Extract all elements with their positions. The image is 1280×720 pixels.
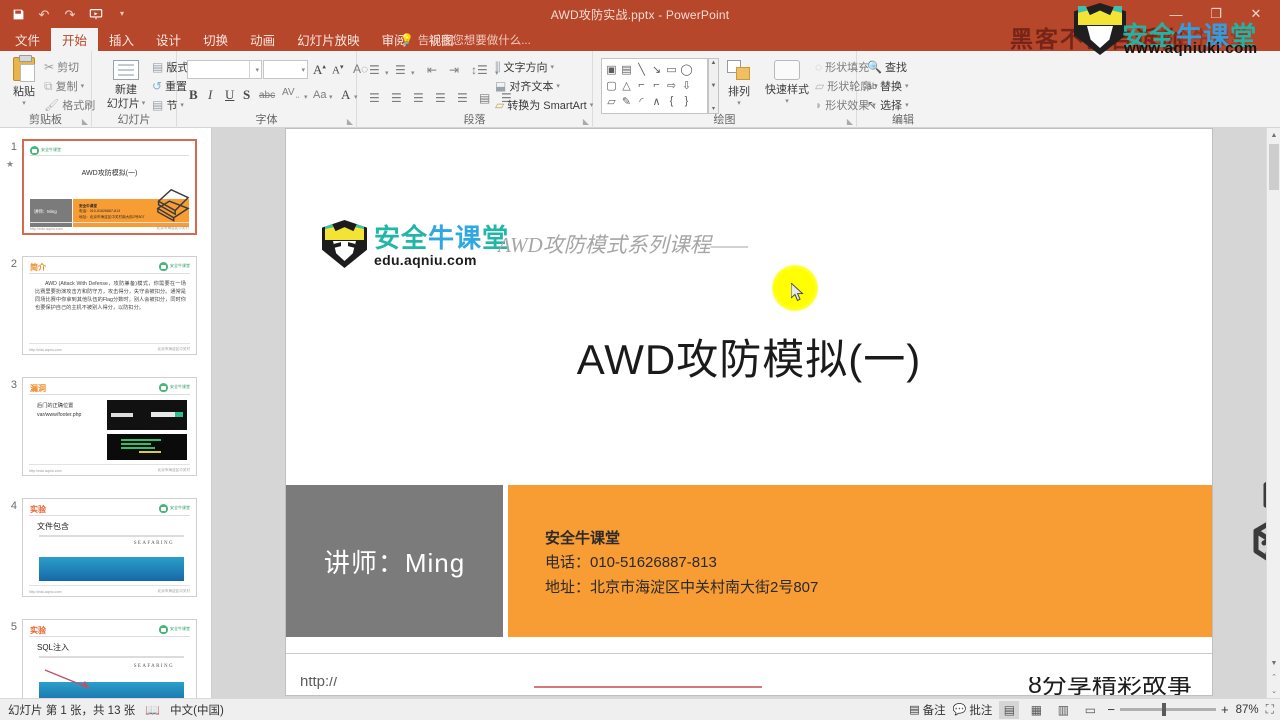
window-controls: — ❐ ✕ [1156,0,1276,28]
thumbnail-slide-4[interactable]: 实验 安全牛课堂 文件包含 SEAFARING http://edu.aqniu… [22,498,197,597]
thumb4-browser-chrome [39,535,184,537]
thumb1-title: AWD攻防模拟(一) [24,168,195,178]
thumb4-hero-image [39,557,184,581]
thumb5-browser-chrome [39,656,184,658]
character-spacing-caret-icon[interactable]: ▾ [304,93,308,101]
thumb2-header-line [29,273,190,274]
powerpoint-window: ↶ ↷ ▾ AWD攻防实战.pptx - PowerPoint — ❐ ✕ 文件… [0,0,1280,720]
shape-arrow-icon[interactable]: ↘ [649,61,664,77]
shape-curve-icon[interactable]: ∧ [649,93,664,109]
thumb3-body: 后门的正确位置var/www/footer.php [37,402,81,420]
status-bar-right: ▤ 备注 💬 批注 ▤ ▦ ▥ ▭ − + 87% ⛶ [909,701,1274,719]
restore-button[interactable]: ❐ [1196,0,1236,28]
cursor-arrow-icon: ↖ [867,98,877,112]
reset-icon: ↺ [152,79,162,93]
arrange-caret-icon[interactable]: ▾ [737,100,741,108]
text-direction-icon: ⫼ [495,60,501,75]
quick-styles-label: 快速样式 [765,84,809,97]
slide-speaker-text: 讲师：Ming [286,485,503,637]
shape-triangle-icon[interactable]: △ [619,77,634,93]
slide-editing-stage[interactable]: 安全牛课堂 edu.aqniu.com AWD攻防模式系列课程—— AWD攻防模… [212,128,1280,698]
slide-count-label[interactable]: 幻灯片 第 1 张，共 13 张 [8,702,135,718]
previous-slide-icon[interactable]: ⌃ [1267,670,1280,684]
thumb5-arrow-icon [43,668,93,690]
thumb1-footer-line [30,222,189,223]
thumbnail-row-4[interactable]: 4 实验 安全牛课堂 文件包含 SEAFARING http://edu.aqn… [0,498,212,597]
thumb3-footer-right: 北京市海淀区中关村 [158,468,190,473]
brand-bull-icon [159,262,168,271]
tab-animations[interactable]: 动画 [239,28,286,51]
increase-indent-button[interactable]: ⇥ [449,63,459,77]
paste-button[interactable]: 粘贴 ▾ [4,57,44,108]
new-slide-label-1: 新建 [115,84,137,97]
paragraph-dialog-launcher[interactable]: ◣ [583,117,589,126]
comments-button[interactable]: 💬 批注 [953,702,993,718]
align-center-button[interactable]: ☰ [391,91,402,105]
shape-callout-icon[interactable]: ▱ [604,93,619,109]
next-slide-ghost-left: http:// [300,677,338,690]
notes-label: 备注 [923,702,946,718]
reading-view-button[interactable]: ▥ [1053,701,1073,719]
shapes-gallery-scrollbar[interactable]: ▲ ▼ ▾ [708,58,719,114]
thumb1-footer-right: 北京市海淀区中关村 [157,226,189,231]
ribbon-group-clipboard: 粘贴 ▾ ✂ 剪切 ⧉ 复制 ▾ 🖌 格式刷 剪贴板 ◣ [0,51,92,128]
section-icon: ▤ [152,98,163,112]
brand-bull-icon [30,146,39,155]
scroll-up-icon[interactable]: ▲ [1267,128,1280,142]
change-case-caret-icon[interactable]: ▾ [329,93,333,101]
thumb4-title: 文件包含 [37,521,69,532]
thumb2-brand: 安全牛课堂 [170,264,190,268]
shape-blank3-icon[interactable] [694,93,709,109]
ribbon-group-slides: 新建 幻灯片 ▾ ▤ 版式 ▾ ↺ 重置 ▤ 节 ▾ 幻灯片 [92,51,177,128]
vertical-scrollbar-thumb[interactable] [1269,144,1279,190]
arrange-button[interactable]: 排列 ▾ [719,60,759,108]
clipboard-dialog-launcher[interactable]: ◣ [82,117,88,126]
shape-arc-icon[interactable]: ◜ [634,93,649,109]
distributed-button[interactable]: ☰ [457,91,468,105]
line-spacing-button[interactable]: ↕☰ [471,63,488,77]
zoom-track[interactable] [1120,708,1216,711]
shrink-font-button[interactable]: A▾ [332,63,343,77]
thumb3-footer: http://edu.aqniu.com [29,469,62,473]
quick-styles-button[interactable]: 快速样式 ▾ [763,60,811,106]
scroll-down-icon[interactable]: ▼ [1267,656,1280,670]
layout-icon: ▤ [152,60,163,74]
tell-me-search[interactable]: 💡 告诉我您想要做什么... [400,28,531,51]
language-label[interactable]: 中文(中国) [170,702,224,718]
thumb4-footer-right: 北京市海淀区中关村 [158,589,190,594]
group-label-slides: 幻灯片 [92,111,176,127]
zoom-slider[interactable]: − + [1107,702,1228,717]
italic-button[interactable]: I [208,87,212,103]
thumb4-seafaring: SEAFARING [134,541,174,546]
brand-bull-icon [159,383,168,392]
shape-textbox2-icon[interactable]: ▤ [619,61,634,77]
copy-button[interactable]: ⧉ 复制 ▾ [44,78,84,94]
thumb5-brand: 安全牛课堂 [170,627,190,631]
thumb1-header-line [30,155,189,156]
group-label-editing: 编辑 [857,111,949,127]
slide-brand-logo: 安全牛课堂 edu.aqniu.com [322,220,509,268]
next-slide-icon[interactable]: ⌄ [1267,684,1280,698]
ribbon-tabs: 文件 开始 插入 设计 切换 动画 幻灯片放映 审阅 视图 [4,28,465,51]
copy-icon: ⧉ [44,79,53,94]
new-slide-icon [113,60,139,80]
shape-lbrace-icon[interactable]: { [664,93,679,109]
thumbnail-1-animation-star-icon: ★ [6,159,14,170]
thumbnail-number-2: 2 [0,256,22,355]
decrease-indent-button[interactable]: ⇤ [427,63,437,77]
paintbrush-icon: 🖌 [44,98,59,112]
thumb1-contact: 安全牛课堂电话：010-51626887-813地址：北京市海淀区中关村南大街2… [79,204,145,220]
drawing-dialog-launcher[interactable]: ◣ [847,117,853,126]
slide-logo-en: edu.aqniu.com [374,252,509,268]
shape-fill-icon: ◌ [815,60,822,74]
slide-vertical-scrollbar[interactable]: ▲ ▼ ⌃ ⌄ [1266,128,1280,698]
brand-bull-icon [159,625,168,634]
thumb5-tag: 实验 [30,625,46,636]
shape-rbrace-icon[interactable]: } [679,93,694,109]
text-direction-caret-icon[interactable]: ▾ [551,63,555,71]
proofing-icon[interactable]: 📖 [145,703,160,717]
text-shadow-button[interactable]: S [243,87,250,103]
tab-slideshow[interactable]: 幻灯片放映 [286,28,371,51]
slide-thumbnail-panel[interactable]: 1 安全牛课堂 AWD攻防模拟(一) 讲师：Ming 安全牛课堂电话：010-5… [0,128,212,698]
thumb2-footer-right: 北京市海淀区中关村 [158,347,190,352]
ribbon-group-paragraph: ☰ ▾ ☰ ▾ ⇤ ⇥ ↕☰ ▾ ☰ ☰ ☰ ☰ ☰ ▤ ☰ ▾ ⫼ 文字方向 … [357,51,593,128]
quick-styles-icon [774,60,800,80]
thumb2-body: AWD (Attack With Defense，攻防兼备)模式，你需要在一场比… [35,280,186,312]
shape-elbow2-icon[interactable]: ⌐ [649,77,664,93]
slide-logo-cn: 安全牛课堂 [374,225,509,252]
thumbnail-row-5[interactable]: 5 实验 安全牛课堂 SQL注入 SEAFARING [0,619,212,698]
shape-blank2-icon[interactable] [694,77,709,93]
copy-caret-icon[interactable]: ▾ [81,82,85,90]
status-bar-left: 幻灯片 第 1 张，共 13 张 📖 中文(中国) [8,702,224,718]
slide-contact-block: 安全牛课堂 电话：010-51626887-813 地址：北京市海淀区中关村南大… [545,527,818,600]
align-left-button[interactable]: ☰ [369,91,380,105]
contact-phone: 电话：010-51626887-813 [545,551,818,575]
shapes-scroll-up-icon[interactable]: ▲ [711,60,717,66]
contact-org: 安全牛课堂 [545,527,818,551]
find-button[interactable]: 🔍 查找 [867,59,907,75]
text-direction-button[interactable]: ⫼ 文字方向 ▾ [495,59,554,75]
new-slide-button[interactable]: 新建 幻灯片 ▾ [100,60,152,110]
title-bar: ↶ ↷ ▾ AWD攻防实战.pptx - PowerPoint — ❐ ✕ [0,0,1280,28]
group-label-paragraph: 段落 [357,111,592,127]
notes-icon: ▤ [909,703,919,716]
justify-button[interactable]: ☰ [435,91,446,105]
paste-label: 粘贴 [13,86,35,99]
replace-label: 替换 [880,78,902,94]
font-dialog-launcher[interactable]: ◣ [347,117,353,126]
align-right-button[interactable]: ☰ [413,91,424,105]
thumb1-brand: 安全牛课堂 [41,148,61,152]
zoom-out-button[interactable]: − [1107,702,1115,717]
slide-series-subtitle: AWD攻防模式系列课程—— [498,229,748,259]
minimize-button[interactable]: — [1156,0,1196,28]
thumbnail-number-3: 3 [0,377,22,476]
zoom-knob[interactable] [1162,703,1166,716]
thumb3-tag: 漏洞 [30,383,46,394]
new-slide-label-2: 幻灯片 [107,98,140,111]
thumbnail-row-3[interactable]: 3 漏洞 安全牛课堂 后门的正确位置var/www/footer.php [0,377,212,476]
align-text-caret-icon[interactable]: ▾ [556,82,560,90]
zoom-level-label[interactable]: 87% [1236,704,1259,716]
thumb1-footer: http://edu.aqniu.com [30,227,63,231]
thumb3-brand: 安全牛课堂 [170,385,190,389]
arrange-icon [727,60,751,82]
slide-sorter-button[interactable]: ▦ [1026,701,1046,719]
thumb4-footer-line [29,585,190,586]
current-slide[interactable]: 安全牛课堂 edu.aqniu.com AWD攻防模式系列课程—— AWD攻防模… [286,129,1212,695]
arrange-label: 排列 [728,86,750,99]
slide-speaker-band[interactable]: 讲师：Ming [286,485,503,637]
shape-downarrow-icon[interactable]: ⇩ [679,77,694,93]
normal-view-button[interactable]: ▤ [999,701,1019,719]
replace-button[interactable]: ab 替换 ▾ [867,78,909,94]
thumbnail-number-4: 4 [0,498,22,597]
bullets-button[interactable]: ☰ [369,63,380,77]
slide-footer-divider [286,653,1212,654]
thumbnail-slide-1[interactable]: 安全牛课堂 AWD攻防模拟(一) 讲师：Ming 安全牛课堂电话：010-516… [22,139,197,235]
ribbon-tab-bar: 文件 开始 插入 设计 切换 动画 幻灯片放映 审阅 视图 💡 告诉我您想要做什… [0,28,1280,51]
thumbnail-number-5: 5 [0,619,22,698]
group-label-font: 字体 [177,111,356,127]
shape-effects-icon: ◗ [815,98,822,112]
scissors-icon: ✂ [44,60,54,74]
group-label-clipboard: 剪贴板 [0,111,91,127]
shape-textbox-icon[interactable]: ▣ [604,61,619,77]
thumbnail-slide-2[interactable]: 简介 安全牛课堂 AWD (Attack With Defense，攻防兼备)模… [22,256,197,355]
thumbnail-slide-5[interactable]: 实验 安全牛课堂 SQL注入 SEAFARING [22,619,197,698]
replace-icon: ab [867,81,877,91]
tab-file[interactable]: 文件 [4,28,51,51]
thumb5-seafaring: SEAFARING [134,664,174,669]
shape-oval-icon[interactable]: ◯ [679,61,694,77]
bullets-caret-icon[interactable]: ▾ [385,69,389,77]
align-text-label: 对齐文本 [509,78,553,94]
zoom-in-button[interactable]: + [1221,702,1229,717]
group-label-drawing: 绘图 [593,111,856,127]
thumb3-screenshot-2 [107,434,187,460]
comment-icon: 💬 [953,703,967,716]
shape-elbow-icon[interactable]: ⌐ [634,77,649,93]
shape-outline-icon: ▱ [815,79,824,93]
thumb3-footer-line [29,464,190,465]
cut-button[interactable]: ✂ 剪切 [44,59,79,75]
ribbon-group-font: ▾ ▾ A▴ A▾ A◌ B I U S abc AV↔ ▾ Aa ▾ A ▾ … [177,51,357,128]
font-size-input[interactable]: ▾ [263,60,308,79]
align-text-icon: ⬓ [495,79,506,93]
mouse-cursor-icon [791,283,805,303]
thumb5-title: SQL注入 [37,642,69,653]
ribbon: 粘贴 ▾ ✂ 剪切 ⧉ 复制 ▾ 🖌 格式刷 剪贴板 ◣ 新建 [0,51,1280,128]
slide-main-title[interactable]: AWD攻防模拟(一) [286,326,1212,387]
bold-button[interactable]: B [189,87,198,103]
notes-button[interactable]: ▤ 备注 [909,702,945,718]
status-bar: 幻灯片 第 1 张，共 13 张 📖 中文(中国) ▤ 备注 💬 批注 ▤ ▦ … [0,698,1280,720]
shapes-gallery[interactable]: ▣ ▤ ╲ ↘ ▭ ◯ ▢ △ ⌐ ⌐ ⇨ ⇩ ▱ ✎ ◜ ∧ { } [601,58,708,114]
new-slide-caret-icon[interactable]: ▾ [142,100,146,108]
shape-line-icon[interactable]: ╲ [634,61,649,77]
paste-caret-icon[interactable]: ▾ [22,100,26,108]
thumb2-footer: http://edu.aqniu.com [29,348,62,352]
shape-freeform-icon[interactable]: ✎ [619,93,634,109]
thumbnail-number-1: 1 [0,139,22,235]
font-name-input[interactable]: ▾ [187,60,262,79]
font-color-button[interactable]: A [341,87,350,103]
slide-contact-band[interactable]: 安全牛课堂 电话：010-51626887-813 地址：北京市海淀区中关村南大… [508,485,1212,637]
thumb4-footer: http://edu.aqniu.com [29,590,62,594]
select-caret-icon[interactable]: ▾ [905,101,909,109]
close-button[interactable]: ✕ [1236,0,1276,28]
change-case-button[interactable]: Aa [313,89,326,101]
next-slide-ghost-right: 8分享精彩故事 [1028,677,1192,695]
underline-button[interactable]: U [225,87,234,103]
numbering-caret-icon[interactable]: ▾ [411,69,415,77]
next-slide-preview[interactable]: http:// 8分享精彩故事 [286,677,1212,695]
comments-label: 批注 [969,702,992,718]
text-direction-label: 文字方向 [504,59,548,75]
fit-to-window-icon[interactable]: ⛶ [1266,702,1274,717]
thumb4-header-line [29,515,190,516]
thumb4-tag: 实验 [30,504,46,515]
tab-home[interactable]: 开始 [51,28,98,51]
window-title: AWD攻防实战.pptx - PowerPoint [0,0,1280,28]
find-label: 查找 [885,59,907,75]
thumb3-header-line [29,394,190,395]
tab-design[interactable]: 设计 [145,28,192,51]
cut-label: 剪切 [57,59,79,75]
tab-transitions[interactable]: 切换 [192,28,239,51]
shapes-scroll-down-icon[interactable]: ▼ [711,83,717,89]
strikethrough-button[interactable]: abc [259,90,275,101]
lightbulb-icon: 💡 [400,33,414,46]
tell-me-label: 告诉我您想要做什么... [418,32,531,48]
thumb1-speaker: 讲师：Ming [34,209,57,215]
copy-label: 复制 [56,78,78,94]
thumb5-header-line [29,636,190,637]
thumb4-brand: 安全牛课堂 [170,506,190,510]
search-icon: 🔍 [867,60,882,74]
brand-bull-icon [159,504,168,513]
thumbnail-slide-3[interactable]: 漏洞 安全牛课堂 后门的正确位置var/www/footer.php [22,377,197,476]
grow-font-button[interactable]: A▴ [313,62,326,78]
align-text-button[interactable]: ⬓ 对齐文本 ▾ [495,78,560,94]
shape-rightarrow-icon[interactable]: ⇨ [664,77,679,93]
thumb2-footer-line [29,343,190,344]
ribbon-group-editing: 🔍 查找 ab 替换 ▾ ↖ 选择 ▾ 编辑 [857,51,949,128]
contact-address: 地址：北京市海淀区中关村南大街2号807 [545,576,818,600]
quick-styles-caret-icon[interactable]: ▾ [785,98,789,106]
thumbnail-row-2[interactable]: 2 简介 安全牛课堂 AWD (Attack With Defense，攻防兼备… [0,256,212,355]
shape-roundrect-icon[interactable]: ▢ [604,77,619,93]
thumb3-screenshot-1 [107,400,187,430]
numbering-button[interactable]: ☰ [395,63,406,77]
slideshow-button[interactable]: ▭ [1080,701,1100,719]
thumbnail-row-1[interactable]: 1 安全牛课堂 AWD攻防模拟(一) 讲师：Ming 安全牛课堂电话：010-5… [0,139,212,235]
thumb1-books-icon [155,183,191,223]
replace-caret-icon[interactable]: ▾ [905,82,909,90]
clipboard-icon [13,57,35,81]
next-slide-ghost-bar [534,686,762,688]
columns-button[interactable]: ▤ [479,91,490,105]
shape-blank-icon[interactable] [694,61,709,77]
tab-insert[interactable]: 插入 [98,28,145,51]
shape-rect-icon[interactable]: ▭ [664,61,679,77]
thumb2-tag: 简介 [30,262,46,273]
ribbon-group-drawing: ▣ ▤ ╲ ↘ ▭ ◯ ▢ △ ⌐ ⌐ ⇨ ⇩ ▱ ✎ ◜ ∧ { } [593,51,857,128]
smartart-icon: ▱ [495,98,504,112]
bull-shield-icon [322,220,367,268]
character-spacing-button[interactable]: AV↔ [282,87,301,100]
